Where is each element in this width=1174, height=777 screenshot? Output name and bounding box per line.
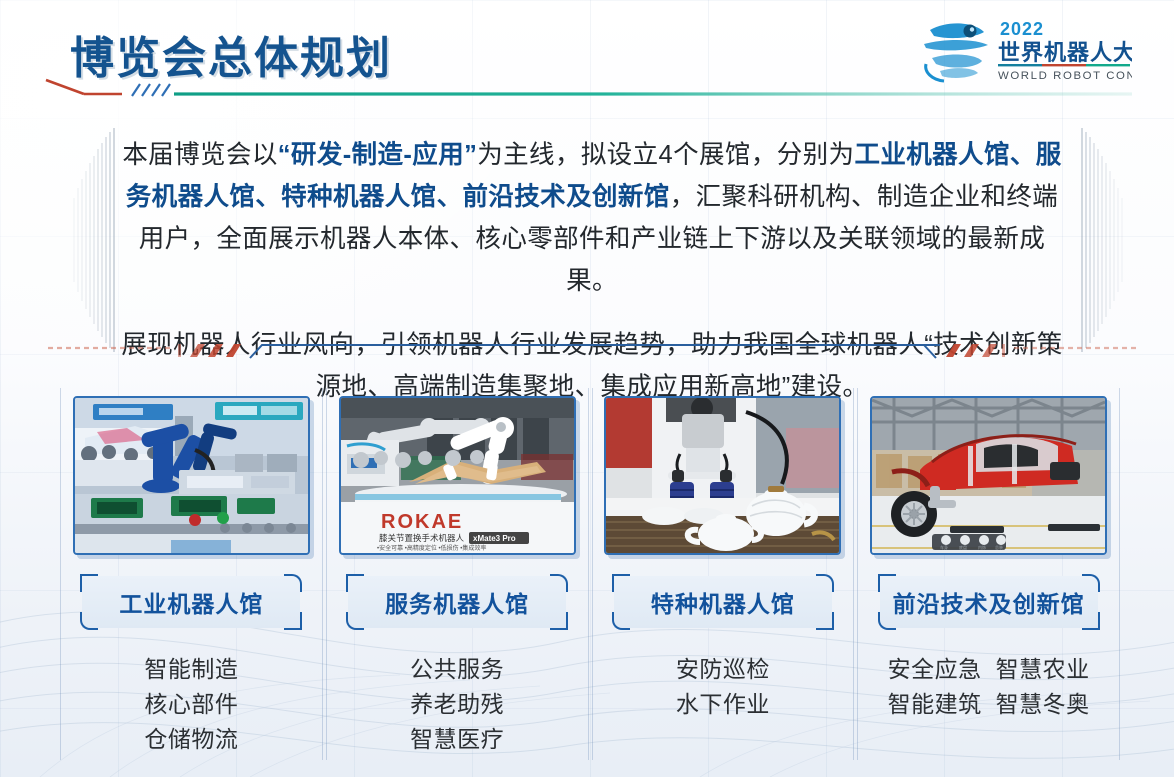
svg-text:•安全可靠 •高精度定位 •低损伤 •集成效率: •安全可靠 •高精度定位 •低损伤 •集成效率 bbox=[377, 544, 486, 552]
logo-year: 2022 bbox=[1000, 19, 1044, 39]
hall-photo-industrial bbox=[73, 396, 310, 555]
intro-p1-a: 本届博览会以 bbox=[122, 141, 277, 169]
svg-text:膝关节置换手术机器人: 膝关节置换手术机器人 bbox=[379, 533, 465, 543]
svg-text:内饰: 内饰 bbox=[978, 544, 986, 550]
svg-text:总装: 总装 bbox=[995, 544, 1003, 550]
soft-gripper-robot-teapot-photo bbox=[606, 398, 839, 553]
hall-photo-frontier: 车身底盘 内饰总装 bbox=[870, 396, 1107, 555]
hall-photo-service: ROKAE 膝关节置换手术机器人 xMate3 Pro •安全可靠 •高精度定位… bbox=[339, 396, 576, 555]
hall-title-box-service: 服务机器人馆 bbox=[348, 576, 566, 628]
hall-card-industrial[interactable]: 工业机器人馆 智能制造 核心部件 仓储物流 bbox=[60, 388, 323, 760]
intro-p1-b: 为主线，拟设立4个展馆，分别为 bbox=[477, 141, 854, 169]
hall-item: 智慧农业 bbox=[996, 656, 1090, 682]
hall-item: 安防巡检 bbox=[676, 656, 770, 682]
intro-section: 本届博览会以“研发-制造-应用”为主线，拟设立4个展馆，分别为工业机器人馆、服务… bbox=[0, 120, 1174, 360]
hall-items-service: 公共服务 养老助残 智慧医疗 bbox=[410, 652, 504, 757]
section-divider-decoration bbox=[0, 335, 1174, 365]
hall-items-special: 安防巡检 水下作业 bbox=[676, 652, 770, 722]
hall-title-box-frontier: 前沿技术及创新馆 bbox=[880, 576, 1098, 628]
rokae-surgical-service-robot-photo: ROKAE 膝关节置换手术机器人 xMate3 Pro •安全可靠 •高精度定位… bbox=[341, 398, 574, 553]
automotive-digital-twin-factory-photo: 车身底盘 内饰总装 bbox=[872, 398, 1105, 553]
hall-title-industrial: 工业机器人馆 bbox=[119, 585, 263, 619]
hall-item: 养老助残 bbox=[410, 691, 504, 717]
robot-swirl-icon bbox=[924, 23, 988, 81]
logo-name-cn: 世界机器人大会 bbox=[998, 40, 1132, 65]
hall-card-service[interactable]: ROKAE 膝关节置换手术机器人 xMate3 Pro •安全可靠 •高精度定位… bbox=[326, 388, 589, 760]
svg-text:车身: 车身 bbox=[940, 544, 948, 550]
hall-card-frontier[interactable]: 车身底盘 内饰总装 前沿技术及创新馆 安全应急智慧农业 智能建筑智慧冬奥 bbox=[857, 388, 1120, 760]
hall-photo-special bbox=[604, 396, 841, 555]
halls-card-grid: 工业机器人馆 智能制造 核心部件 仓储物流 bbox=[60, 388, 1120, 760]
hall-item: 智慧医疗 bbox=[410, 726, 504, 752]
svg-text:ROKAE: ROKAE bbox=[381, 511, 463, 533]
hall-item: 智慧冬奥 bbox=[996, 691, 1090, 717]
slide-root: 博览会总体规划 2022 世界机器人大会 bbox=[0, 0, 1174, 777]
hall-item: 仓储物流 bbox=[144, 726, 238, 752]
hall-title-special: 特种机器人馆 bbox=[651, 585, 795, 619]
intro-paragraph-1: 本届博览会以“研发-制造-应用”为主线，拟设立4个展馆，分别为工业机器人馆、服务… bbox=[118, 134, 1066, 302]
page-title: 博览会总体规划 bbox=[70, 22, 392, 86]
hall-item: 智能制造 bbox=[144, 656, 238, 682]
hall-item: 核心部件 bbox=[144, 691, 238, 717]
hall-item: 公共服务 bbox=[410, 656, 504, 682]
left-stripe-decoration bbox=[60, 128, 116, 352]
intro-theme: “研发-制造-应用” bbox=[278, 141, 477, 169]
hall-items-frontier: 安全应急智慧农业 智能建筑智慧冬奥 bbox=[888, 652, 1090, 722]
conference-logo: 2022 世界机器人大会 WORLD ROBOT CONFERENCE bbox=[918, 14, 1132, 86]
hall-title-frontier: 前沿技术及创新馆 bbox=[893, 585, 1085, 619]
logo-name-en: WORLD ROBOT CONFERENCE bbox=[998, 70, 1132, 82]
hall-item: 智能建筑 bbox=[888, 691, 982, 717]
svg-text:底盘: 底盘 bbox=[959, 544, 967, 550]
industrial-robot-arm-assembly-line-photo bbox=[75, 398, 308, 553]
right-stripe-decoration bbox=[1080, 128, 1136, 352]
intro-text: 本届博览会以“研发-制造-应用”为主线，拟设立4个展馆，分别为工业机器人馆、服务… bbox=[118, 134, 1066, 408]
hall-title-box-special: 特种机器人馆 bbox=[614, 576, 832, 628]
hall-title-service: 服务机器人馆 bbox=[385, 585, 529, 619]
hall-items-industrial: 智能制造 核心部件 仓储物流 bbox=[144, 652, 238, 757]
hall-title-box-industrial: 工业机器人馆 bbox=[82, 576, 300, 628]
svg-text:xMate3 Pro: xMate3 Pro bbox=[473, 534, 516, 543]
hall-card-special[interactable]: 特种机器人馆 安防巡检 水下作业 bbox=[592, 388, 855, 760]
hall-item: 安全应急 bbox=[888, 656, 982, 682]
hall-item: 水下作业 bbox=[676, 691, 770, 717]
